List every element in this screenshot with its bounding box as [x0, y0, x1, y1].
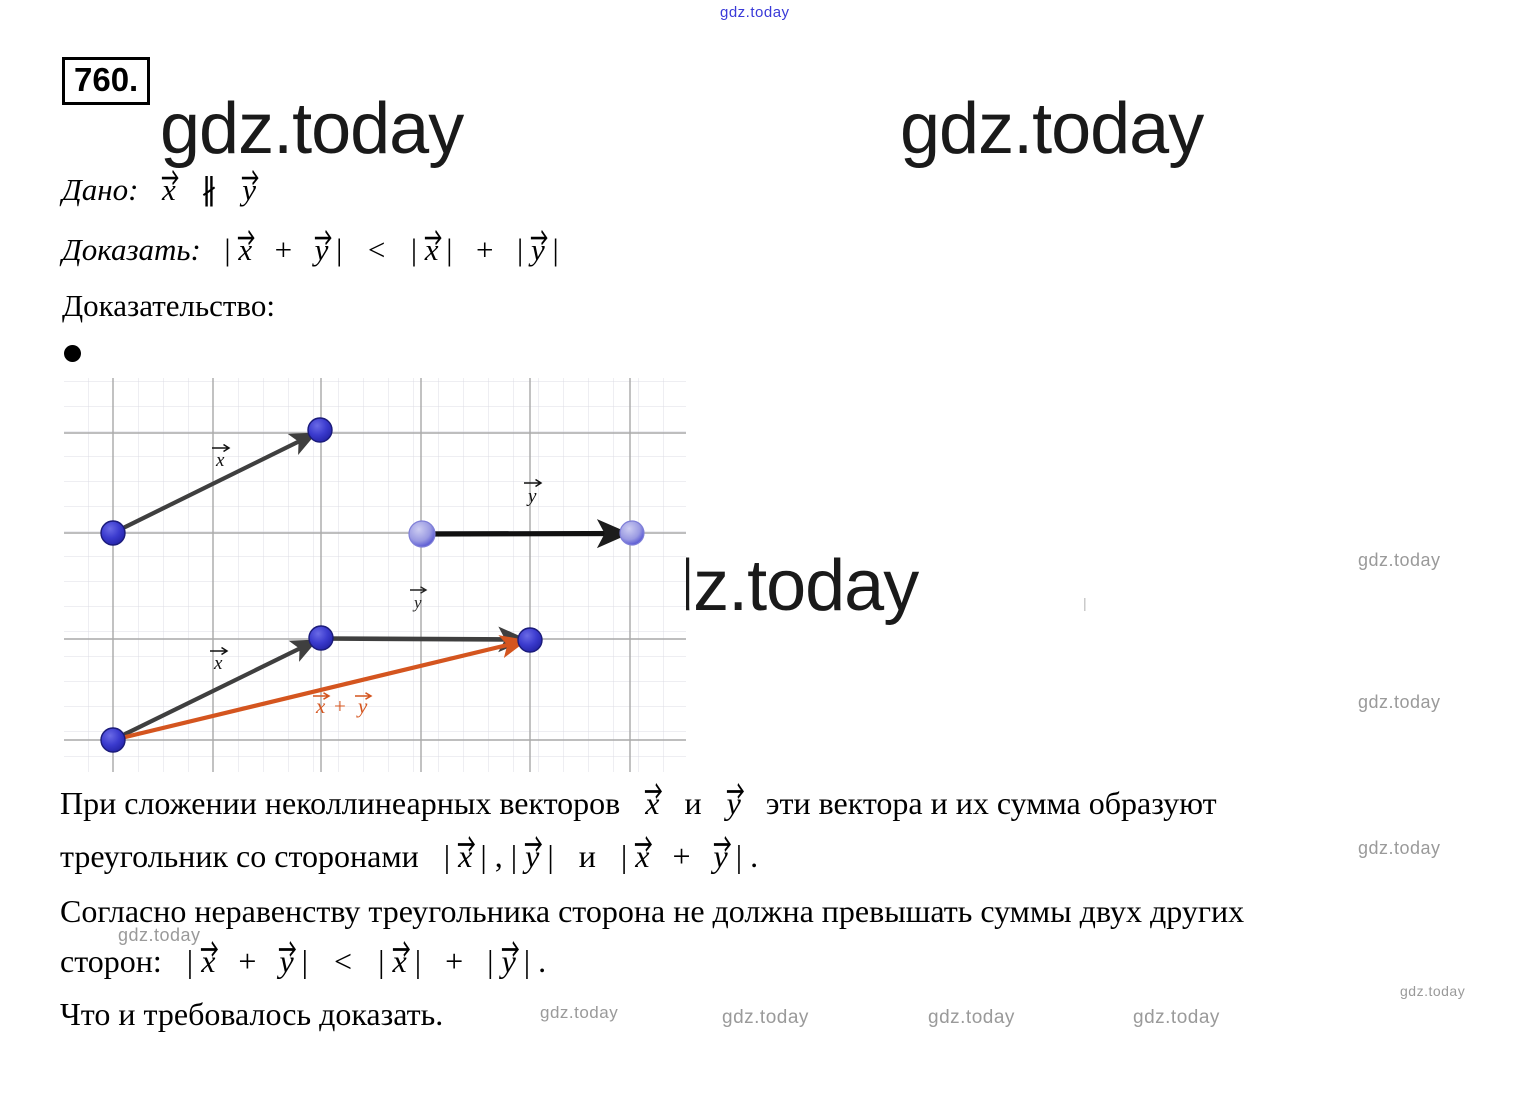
- vector-y-bottom: [321, 639, 524, 640]
- abs-open-3: |: [517, 232, 523, 267]
- vector-y-top: [422, 534, 626, 535]
- less-than-sign: <: [368, 232, 385, 267]
- not-parallel-icon: ∦: [201, 172, 217, 207]
- given-line: Дано: x ∦ y: [62, 172, 256, 208]
- vector-y-inline: y: [714, 838, 728, 875]
- vector-y-letter: y: [525, 838, 539, 874]
- abs-open: |: [224, 232, 230, 267]
- label-vector-y-bottom: y: [412, 593, 422, 612]
- svg-text:y: y: [356, 694, 368, 718]
- abs-close: |: [302, 943, 308, 979]
- abs-open: |: [621, 838, 627, 874]
- abs-close: |: [480, 838, 486, 874]
- point-x-top-start[interactable]: [101, 521, 125, 545]
- abs-open: |: [187, 943, 193, 979]
- vector-x-letter: x: [238, 232, 252, 267]
- label-vector-x-top: x: [215, 450, 225, 471]
- vector-y-given: y: [242, 172, 256, 208]
- watermark-top-center: gdz.today: [720, 4, 790, 21]
- vector-x-letter: x: [645, 785, 659, 821]
- vector-diagram: x y x y x + y: [64, 378, 686, 772]
- plus-sign: +: [275, 232, 292, 267]
- point-triangle-mid[interactable]: [309, 626, 333, 650]
- conclusion-line-2: треугольник со сторонами | x | , | y | и…: [60, 838, 758, 875]
- given-label: Дано:: [62, 172, 138, 207]
- svg-text:+: +: [334, 694, 346, 718]
- label-vector-x-bottom: x: [213, 653, 223, 674]
- vector-x-inline: x: [458, 838, 472, 875]
- watermark-right-1: gdz.today: [1358, 550, 1441, 571]
- vector-x-letter: x: [393, 943, 407, 979]
- vector-y-abs: y: [531, 232, 545, 268]
- vector-x-letter: x: [201, 943, 215, 979]
- vector-x-prove: x: [238, 232, 252, 268]
- vector-x-inline: x: [201, 943, 215, 980]
- vector-y-letter: y: [315, 232, 329, 267]
- vector-y-inline: y: [502, 943, 516, 980]
- point-y-top-end[interactable]: [620, 521, 644, 545]
- point-x-top-end[interactable]: [308, 418, 332, 442]
- abs-close-3: |: [552, 232, 558, 267]
- plus-sign: +: [238, 943, 256, 979]
- watermark-right-2: gdz.today: [1358, 692, 1441, 713]
- vector-y-letter: y: [502, 943, 516, 979]
- proof-label: Доказательство:: [62, 288, 275, 324]
- vector-x-inline: x: [635, 838, 649, 875]
- abs-open-2: |: [411, 232, 417, 267]
- exercise-number: 760.: [62, 57, 150, 105]
- abs-close-2: |: [446, 232, 452, 267]
- watermark-bottom-3: gdz.today: [928, 1007, 1015, 1029]
- vector-x-inline: x: [393, 943, 407, 980]
- less-than-sign: <: [334, 943, 352, 979]
- watermark-bottom-2: gdz.today: [722, 1007, 809, 1029]
- conclusion-text: эти вектора и их сумма образуют: [766, 785, 1217, 821]
- vector-y-letter: y: [727, 785, 741, 821]
- abs-close: |: [736, 838, 742, 874]
- prove-label: Доказать:: [62, 232, 201, 267]
- prove-line: Доказать: | x + y | < | x | + | y |: [62, 232, 559, 268]
- vector-y-inline: y: [727, 785, 741, 822]
- vector-x-letter: x: [162, 172, 176, 207]
- vector-x-abs: x: [425, 232, 439, 268]
- conclusion-text: треугольник со сторонами: [60, 838, 419, 874]
- conjunction: и: [579, 838, 596, 874]
- conclusion-line-3: Согласно неравенству треугольника сторон…: [60, 893, 1244, 930]
- vector-y-inline: y: [525, 838, 539, 875]
- vector-x-letter: x: [635, 838, 649, 874]
- vector-y-inline: y: [279, 943, 293, 980]
- point-triangle-end[interactable]: [518, 628, 542, 652]
- vector-y-letter: y: [714, 838, 728, 874]
- vector-x-given: x: [162, 172, 176, 208]
- point-y-top-start[interactable]: [409, 521, 435, 547]
- vector-y-letter: y: [242, 172, 256, 207]
- conclusion-line-1: При сложении неколлинеарных векторов x и…: [60, 785, 1217, 822]
- period: .: [538, 943, 546, 979]
- watermark-bottom-4: gdz.today: [1133, 1007, 1220, 1029]
- label-vector-y-top: y: [526, 486, 537, 507]
- abs-close: |: [336, 232, 342, 267]
- plus-sign-2: +: [476, 232, 493, 267]
- plus-sign: +: [672, 838, 690, 874]
- vector-x-letter: x: [458, 838, 472, 874]
- point-triangle-origin[interactable]: [101, 728, 125, 752]
- bullet-point-icon: [64, 345, 81, 362]
- plus-sign: +: [445, 943, 463, 979]
- conclusion-text: При сложении неколлинеарных векторов: [60, 785, 620, 821]
- abs-open: |: [487, 943, 493, 979]
- vector-x-letter: x: [425, 232, 439, 267]
- conclusion-text: сторон:: [60, 943, 162, 979]
- conjunction: и: [684, 785, 701, 821]
- svg-text:x: x: [315, 694, 326, 718]
- conclusion-line-4: сторон: | x + y | < | x | + | y | .: [60, 943, 546, 980]
- abs-open: |: [378, 943, 384, 979]
- watermark-small-tick: |: [1083, 595, 1087, 611]
- abs-close: |: [547, 838, 553, 874]
- watermark-large-right: gdz.today: [900, 88, 1203, 170]
- abs-close: |: [524, 943, 530, 979]
- period: .: [750, 838, 758, 874]
- vector-y-prove: y: [315, 232, 329, 268]
- abs-open: |: [444, 838, 450, 874]
- conclusion-line-5: Что и требовалось доказать.: [60, 996, 443, 1033]
- label-vector-sum: x + y: [313, 693, 371, 718]
- abs-close: |: [415, 943, 421, 979]
- watermark-right-lower: gdz.today: [1400, 983, 1465, 999]
- abs-open: |: [511, 838, 517, 874]
- watermark-large-left: gdz.today: [160, 88, 463, 170]
- watermark-right-3: gdz.today: [1358, 838, 1441, 859]
- vector-y-letter: y: [279, 943, 293, 979]
- vector-y-letter: y: [531, 232, 545, 267]
- watermark-bottom-1: gdz.today: [540, 1003, 618, 1023]
- vector-x-inline: x: [645, 785, 659, 822]
- comma: ,: [495, 838, 503, 874]
